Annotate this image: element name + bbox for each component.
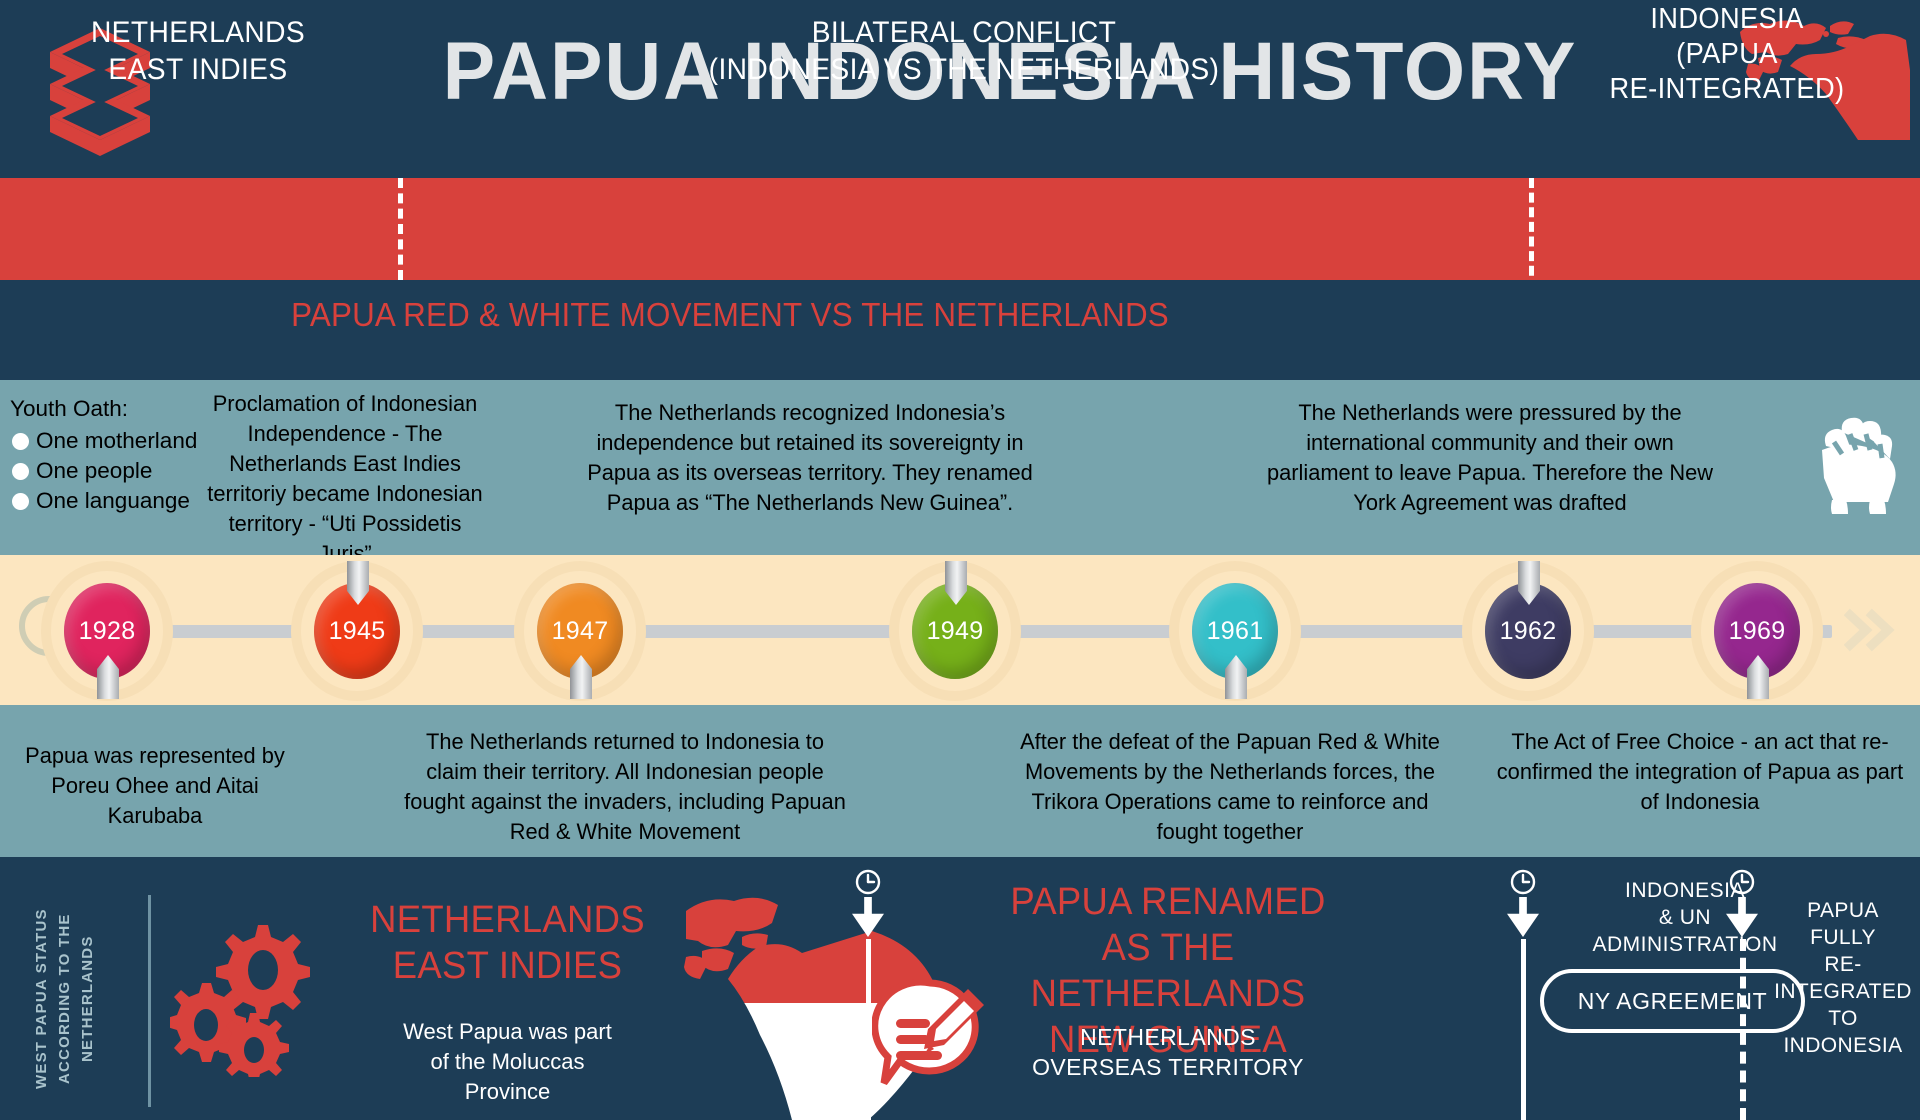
text-line: & UN [1575,904,1795,931]
footer-divider-3 [1740,939,1746,1120]
phase-line: (PAPUA [1676,37,1778,72]
phase-line: BILATERAL CONFLICT [812,14,1117,51]
heading-line: EAST INDIES [342,943,673,989]
raised-fist-icon [1812,402,1898,514]
text-line: INDONESIA [1575,877,1795,904]
description-1945: Proclamation of Indonesian Independence … [200,389,491,569]
heading-line: PAPUA RENAMED [976,879,1360,925]
text-line: RE-INTEGRATED [1768,951,1918,1005]
bullet-icon [12,463,29,480]
footer-sub-renamed: NETHERLANDS OVERSEAS TERRITORY [968,1022,1368,1082]
phase-line: INDONESIA [1650,2,1803,37]
phase-netherlands-east-indies: NETHERLANDS EAST INDIES [12,0,384,102]
sub-heading-bar: PAPUA RED & WHITE MOVEMENT VS THE NETHER… [0,280,1920,380]
bullet-icon [12,493,29,510]
text-line: PAPUA [1768,897,1918,924]
clock-icon [1729,869,1755,895]
timeline-node-1949[interactable]: 1949 [875,555,1035,705]
text-line: FULLY [1768,924,1918,951]
sub-line: OVERSEAS TERRITORY [968,1052,1368,1082]
gears-icon [170,917,335,1077]
description-1962: The Netherlands were pressured by the in… [1262,398,1718,518]
sub-heading-text: PAPUA RED & WHITE MOVEMENT VS THE NETHER… [208,296,1253,334]
timeline-node-1928[interactable]: 1928 [27,555,187,705]
phase-bilateral-conflict: BILATERAL CONFLICT (INDONESIA VS THE NET… [434,0,1494,102]
footer-sub-nei: West Papua was part of the Moluccas Prov… [335,1017,680,1107]
description-1928: Papua was represented by Poreu Ohee and … [14,741,295,831]
sub-line: NETHERLANDS [968,1022,1368,1052]
oath-item-label: One motherland [36,428,197,453]
ny-agreement-badge[interactable]: NY AGREEMENT [1540,969,1805,1033]
footer-divider-1 [866,939,871,1120]
clock-icon [855,869,881,895]
bullet-icon [12,433,29,450]
top-description-band: Youth Oath: One motherland One people On… [0,380,1920,555]
footer-divider-2 [1521,939,1526,1120]
double-chevron-right-icon [1844,607,1898,653]
timeline-node-1969[interactable]: 1969 [1677,555,1837,705]
text-line: ADMINISTRATION [1575,931,1795,958]
footer-section: WEST PAPUA STATUS ACCORDING TO THE NETHE… [0,857,1920,1120]
phase-indonesia-reintegrated: INDONESIA (PAPUA RE-INTEGRATED) [1546,0,1909,102]
sub-line: of the Moluccas [335,1047,680,1077]
phase-line: RE-INTEGRATED) [1610,72,1845,107]
timeline-node-1945[interactable]: 1945 [277,555,437,705]
text-line: TO INDONESIA [1768,1005,1918,1059]
infographic-root: PAPUA INDONESIA HISTORY NETHERLANDS EAST… [0,0,1920,1120]
phase-divider-1 [398,178,403,280]
description-1949: The Netherlands recognized Indonesia’s i… [568,398,1053,518]
footer-text-papua: PAPUA FULLY RE-INTEGRATED TO INDONESIA [1768,897,1918,1059]
sub-line: Province [335,1077,680,1107]
phase-line: EAST INDIES [108,51,287,88]
phase-line: (INDONESIA VS THE NETHERLANDS) [709,51,1220,88]
sub-line: West Papua was part [335,1017,680,1047]
footer-text-un: INDONESIA & UN ADMINISTRATION [1575,877,1795,958]
phase-bar [0,178,1920,280]
vertical-axis-label: WEST PAPUA STATUS ACCORDING TO THE NETHE… [30,891,130,1107]
heading-line: AS THE NETHERLANDS [976,925,1360,1017]
clock-icon [1510,869,1536,895]
arrow-down-icon [1507,897,1539,937]
timeline-node-1961[interactable]: 1961 [1155,555,1315,705]
timeline-node-1962[interactable]: 1962 [1448,555,1608,705]
description-1961: After the defeat of the Papuan Red & Whi… [1012,727,1449,847]
oath-item-label: One languange [36,488,190,513]
oath-item-label: One people [36,458,152,483]
phase-line: NETHERLANDS [91,14,305,51]
bottom-description-band: Papua was represented by Poreu Ohee and … [0,705,1920,857]
footer-heading-nei: NETHERLANDS EAST INDIES [342,897,673,989]
description-1969: The Act of Free Choice - an act that re-… [1496,727,1903,817]
description-1947: The Netherlands returned to Indonesia to… [402,727,848,847]
timeline-band: 1928 1945 1947 1949 1961 1962 [0,555,1920,705]
timeline-node-1947[interactable]: 1947 [500,555,660,705]
vertical-divider [148,895,151,1107]
heading-line: NETHERLANDS [342,897,673,943]
